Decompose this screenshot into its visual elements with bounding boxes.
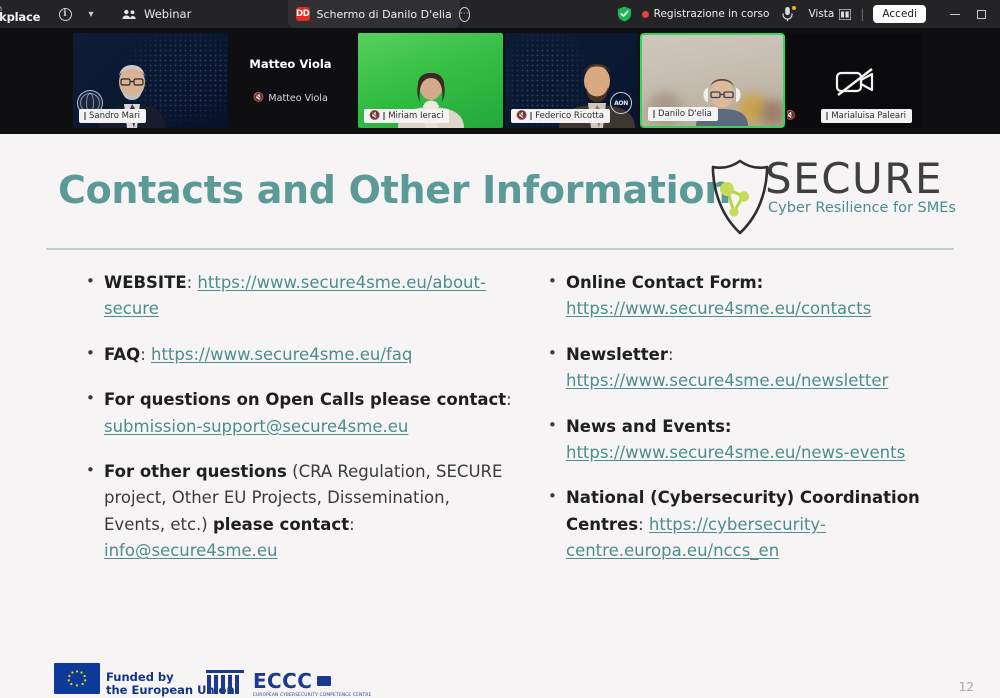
webinar-label: Webinar bbox=[144, 7, 191, 21]
maximize-icon[interactable] bbox=[968, 0, 994, 28]
page-title: Contacts and Other Information bbox=[58, 168, 731, 212]
nametag-sandro-mari: Sandro Mari bbox=[79, 109, 146, 123]
tab-shared-screen[interactable]: DD Schermo di Danilo D'elia ⋯ bbox=[288, 0, 460, 28]
shield-icon bbox=[707, 158, 773, 236]
eccc-wordmark: ECCC bbox=[253, 671, 371, 691]
mic-muted-icon: 🔇 bbox=[516, 112, 527, 121]
list-item: News and Events: https://www.secure4sme.… bbox=[544, 414, 974, 467]
eccc-logo: ECCC EUROPEAN CYBERSECURITY COMPETENCE C… bbox=[204, 667, 371, 698]
eccc-text: ECCC EUROPEAN CYBERSECURITY COMPETENCE C… bbox=[253, 671, 371, 698]
titlebar-right-group: Registrazione in corso Vista | Accedi bbox=[617, 0, 1000, 28]
title-divider bbox=[46, 248, 954, 250]
background-blur bbox=[760, 100, 785, 126]
secure-project-logo: SECURE Cyber Resilience for SMEs bbox=[707, 156, 956, 236]
microphone-icon[interactable] bbox=[781, 6, 794, 22]
video-tile-sandro-mari[interactable]: Sandro Mari bbox=[73, 33, 228, 128]
zoom-logo-line2: orkplace bbox=[0, 10, 40, 24]
active-speaker-panel: Matteo Viola 🔇 Matteo Viola bbox=[228, 28, 353, 133]
bullet-link[interactable]: info@secure4sme.eu bbox=[104, 541, 277, 560]
people-icon bbox=[122, 8, 137, 21]
mic-muted-icon: 🔇 bbox=[787, 112, 796, 121]
bullet-label-2: please contact bbox=[213, 515, 349, 534]
bullet-link[interactable]: https://www.secure4sme.eu/faq bbox=[151, 345, 412, 364]
list-item: FAQ: https://www.secure4sme.eu/faq bbox=[82, 342, 512, 368]
bullet-sep: : bbox=[506, 390, 512, 409]
bullet-label: Newsletter bbox=[566, 345, 668, 364]
list-item: Online Contact Form: https://www.secure4… bbox=[544, 270, 974, 323]
shared-slide: Contacts and Other Information SECURE Cy… bbox=[0, 134, 1000, 698]
window-titlebar: oom orkplace i ▾ Webinar DD Schermo di D… bbox=[0, 0, 1000, 28]
participant-name: Matteo Viola bbox=[268, 93, 327, 104]
left-bullet-list: WEBSITE: https://www.secure4sme.eu/about… bbox=[82, 270, 512, 565]
list-item: Newsletter: https://www.secure4sme.eu/ne… bbox=[544, 342, 974, 395]
participant-name: Marialuisa Paleari bbox=[831, 111, 906, 121]
active-speaker-nametag: 🔇 Matteo Viola bbox=[253, 93, 328, 104]
bullet-sep: : bbox=[187, 273, 193, 292]
camera-off-icon bbox=[835, 67, 875, 97]
video-tile-danilo-delia[interactable]: Danilo D'elia bbox=[640, 33, 785, 128]
eccc-flag-icon bbox=[317, 676, 331, 686]
chevron-down-icon[interactable]: ▾ bbox=[78, 0, 104, 28]
view-label: Vista bbox=[808, 8, 834, 20]
video-tile-federico-ricotta[interactable]: AON 🔇 Federico Ricotta bbox=[505, 33, 638, 128]
bullet-label: For questions on Open Calls please conta… bbox=[104, 390, 506, 409]
slide-footer: Funded by the European Union ECCC EUROPE… bbox=[0, 658, 1000, 698]
right-bullet-list: Online Contact Form: https://www.secure4… bbox=[544, 270, 974, 565]
grid-view-icon bbox=[839, 9, 851, 20]
mic-muted-icon: 🔇 bbox=[253, 94, 264, 103]
bullet-link[interactable]: https://www.secure4sme.eu/contacts bbox=[566, 299, 871, 318]
tab-title: Schermo di Danilo D'elia bbox=[317, 8, 452, 21]
video-tile-miriam-ieraci[interactable]: 🔇 Miriam Ieraci bbox=[358, 33, 503, 128]
nametag-federico-ricotta: 🔇 Federico Ricotta bbox=[511, 109, 610, 123]
bullet-label: WEBSITE bbox=[104, 273, 187, 292]
participant-name: Miriam Ieraci bbox=[388, 111, 443, 121]
titlebar-left-group: oom orkplace i ▾ Webinar bbox=[0, 0, 191, 28]
bullet-sep: : bbox=[638, 515, 644, 534]
eccc-columns-icon bbox=[204, 667, 246, 698]
list-item: WEBSITE: https://www.secure4sme.eu/about… bbox=[82, 270, 512, 323]
more-options-icon[interactable]: ⋯ bbox=[459, 7, 471, 22]
secure-logo-text: SECURE Cyber Resilience for SMEs bbox=[765, 160, 956, 216]
bullet-sep: : bbox=[668, 345, 674, 364]
active-speaker-name: Matteo Viola bbox=[249, 57, 331, 71]
secure-wordmark: SECURE bbox=[765, 160, 956, 199]
list-item: For questions on Open Calls please conta… bbox=[82, 387, 512, 440]
sign-in-button[interactable]: Accedi bbox=[873, 5, 926, 23]
participant-video-strip: Sandro Mari Matteo Viola 🔇 Matteo Viola … bbox=[0, 28, 1000, 134]
video-tile-marialuisa-paleari[interactable]: Marialuisa Paleari 🔇 bbox=[787, 33, 922, 128]
eccc-subtitle: EUROPEAN CYBERSECURITY COMPETENCE CENTRE bbox=[253, 693, 371, 698]
nametag-marialuisa-paleari: Marialuisa Paleari bbox=[821, 109, 912, 123]
mic-muted-icon: 🔇 bbox=[369, 112, 380, 121]
webinar-indicator[interactable]: Webinar bbox=[122, 7, 191, 21]
bullet-label: Online Contact Form: bbox=[566, 273, 763, 292]
tab-avatar-badge: DD bbox=[296, 7, 310, 21]
info-circle-icon[interactable]: i bbox=[52, 0, 78, 28]
bullet-label: News and Events: bbox=[566, 417, 732, 436]
bullet-sep: : bbox=[140, 345, 146, 364]
minimize-icon[interactable] bbox=[942, 0, 968, 28]
participant-name: Sandro Mari bbox=[89, 111, 140, 121]
bullet-link[interactable]: submission-support@secure4sme.eu bbox=[104, 417, 408, 436]
zoom-workplace-logo: oom orkplace bbox=[0, 5, 52, 23]
slide-columns: WEBSITE: https://www.secure4sme.eu/about… bbox=[0, 270, 1000, 584]
recording-label: Registrazione in corso bbox=[654, 8, 770, 20]
bullet-link[interactable]: https://www.secure4sme.eu/newsletter bbox=[566, 371, 888, 390]
microphone-alert-dot bbox=[792, 6, 796, 10]
right-column: Online Contact Form: https://www.secure4… bbox=[544, 270, 974, 584]
eu-flag-icon bbox=[54, 663, 100, 694]
titlebar-separator: | bbox=[860, 7, 864, 21]
recording-dot-icon bbox=[642, 11, 649, 18]
list-item: National (Cybersecurity) Coordination Ce… bbox=[544, 485, 974, 564]
recording-indicator[interactable]: Registrazione in corso bbox=[642, 8, 770, 20]
funded-line-1: Funded by bbox=[106, 670, 174, 684]
bullet-label: For other questions bbox=[104, 462, 287, 481]
background-aon-logo: AON bbox=[610, 92, 632, 114]
list-item: For other questions (CRA Regulation, SEC… bbox=[82, 459, 512, 565]
bullet-link[interactable]: https://www.secure4sme.eu/news-events bbox=[566, 443, 905, 462]
secure-tagline: Cyber Resilience for SMEs bbox=[768, 200, 956, 216]
page-number: 12 bbox=[959, 680, 974, 694]
view-selector[interactable]: Vista bbox=[808, 8, 851, 20]
participant-name: Federico Ricotta bbox=[535, 111, 604, 121]
nametag-danilo-delia: Danilo D'elia bbox=[648, 107, 718, 121]
participant-name: Danilo D'elia bbox=[658, 109, 712, 119]
shield-check-icon[interactable] bbox=[617, 6, 632, 22]
bullet-sep: : bbox=[349, 515, 355, 534]
nametag-miriam-ieraci: 🔇 Miriam Ieraci bbox=[364, 109, 449, 123]
bullet-label: FAQ bbox=[104, 345, 140, 364]
left-column: WEBSITE: https://www.secure4sme.eu/about… bbox=[82, 270, 512, 584]
